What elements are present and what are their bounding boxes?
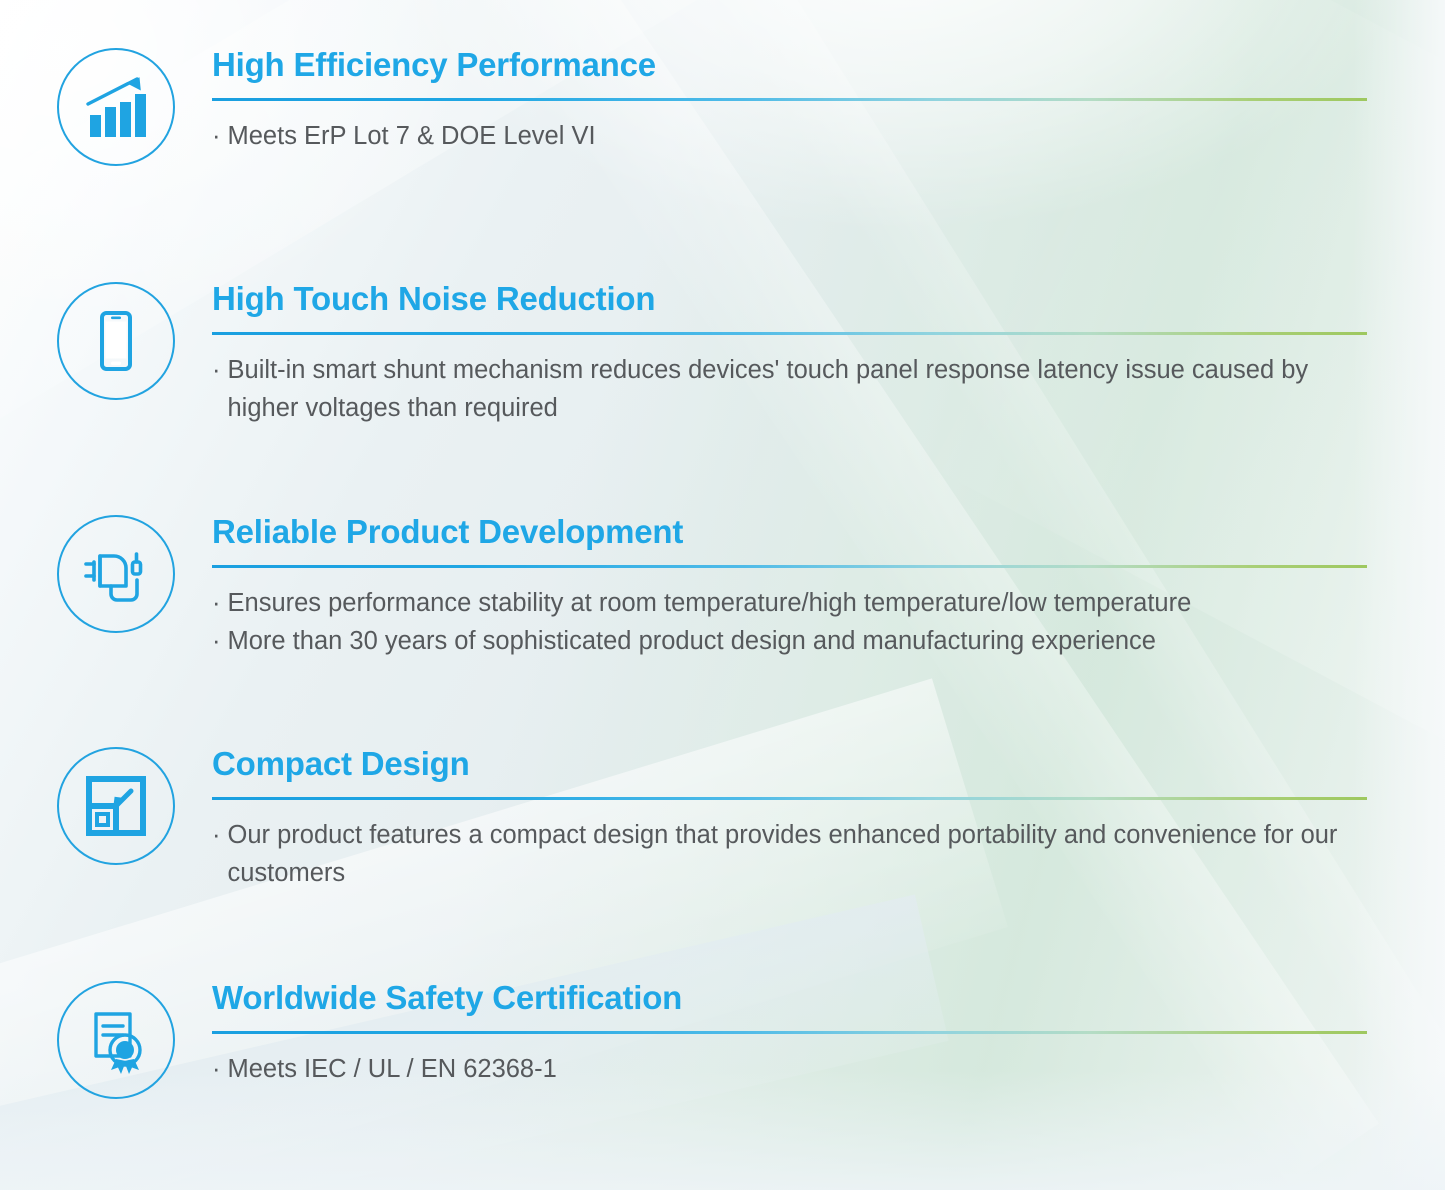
feature-icon-wrap xyxy=(52,48,180,166)
bullet-text: Our product features a compact design th… xyxy=(228,816,1368,893)
feature-bullets: · Meets IEC / UL / EN 62368-1 xyxy=(212,1050,1367,1088)
compact-resize-icon xyxy=(57,747,175,865)
bullet-text: Meets IEC / UL / EN 62368-1 xyxy=(228,1050,1368,1088)
bullet-item: · More than 30 years of sophisticated pr… xyxy=(212,622,1367,660)
bullet-marker: · xyxy=(212,622,221,660)
feature-divider xyxy=(212,332,1367,335)
feature-icon-wrap xyxy=(52,981,180,1099)
feature-title: High Touch Noise Reduction xyxy=(212,282,1367,317)
bullet-marker: · xyxy=(212,1050,221,1088)
feature-divider xyxy=(212,1031,1367,1034)
feature-body: Worldwide Safety Certification · Meets I… xyxy=(212,981,1445,1088)
feature-item: Reliable Product Development · Ensures p… xyxy=(0,515,1445,660)
bullet-marker: · xyxy=(212,584,221,622)
bullet-item: · Meets IEC / UL / EN 62368-1 xyxy=(212,1050,1367,1088)
feature-item: Compact Design · Our product features a … xyxy=(0,747,1445,892)
bullet-text: More than 30 years of sophisticated prod… xyxy=(228,622,1368,660)
feature-item: High Efficiency Performance · Meets ErP … xyxy=(0,48,1445,166)
bullet-marker: · xyxy=(212,816,221,854)
feature-highlights-page: High Efficiency Performance · Meets ErP … xyxy=(0,0,1445,1190)
feature-title: Reliable Product Development xyxy=(212,515,1367,550)
feature-bullets: · Our product features a compact design … xyxy=(212,816,1367,893)
feature-body: High Efficiency Performance · Meets ErP … xyxy=(212,48,1445,155)
feature-item: High Touch Noise Reduction · Built-in sm… xyxy=(0,282,1445,427)
bullet-marker: · xyxy=(212,351,221,389)
feature-body: Compact Design · Our product features a … xyxy=(212,747,1445,892)
feature-bullets: · Meets ErP Lot 7 & DOE Level VI xyxy=(212,117,1367,155)
power-adapter-icon xyxy=(57,515,175,633)
bullet-marker: · xyxy=(212,117,221,155)
feature-title: Worldwide Safety Certification xyxy=(212,981,1367,1016)
bar-chart-growth-icon xyxy=(57,48,175,166)
bullet-item: · Our product features a compact design … xyxy=(212,816,1367,893)
bullet-text: Ensures performance stability at room te… xyxy=(228,584,1368,622)
feature-body: Reliable Product Development · Ensures p… xyxy=(212,515,1445,660)
feature-icon-wrap xyxy=(52,515,180,633)
bullet-text: Built-in smart shunt mechanism reduces d… xyxy=(228,351,1368,428)
feature-bullets: · Ensures performance stability at room … xyxy=(212,584,1367,661)
feature-body: High Touch Noise Reduction · Built-in sm… xyxy=(212,282,1445,427)
certificate-award-icon xyxy=(57,981,175,1099)
feature-divider xyxy=(212,797,1367,800)
feature-icon-wrap xyxy=(52,747,180,865)
smartphone-icon xyxy=(57,282,175,400)
bullet-text: Meets ErP Lot 7 & DOE Level VI xyxy=(228,117,1368,155)
bullet-item: · Ensures performance stability at room … xyxy=(212,584,1367,622)
feature-divider xyxy=(212,565,1367,568)
feature-title: Compact Design xyxy=(212,747,1367,782)
bullet-item: · Meets ErP Lot 7 & DOE Level VI xyxy=(212,117,1367,155)
feature-item: Worldwide Safety Certification · Meets I… xyxy=(0,981,1445,1099)
feature-divider xyxy=(212,98,1367,101)
bullet-item: · Built-in smart shunt mechanism reduces… xyxy=(212,351,1367,428)
feature-title: High Efficiency Performance xyxy=(212,48,1367,83)
feature-bullets: · Built-in smart shunt mechanism reduces… xyxy=(212,351,1367,428)
feature-icon-wrap xyxy=(52,282,180,400)
